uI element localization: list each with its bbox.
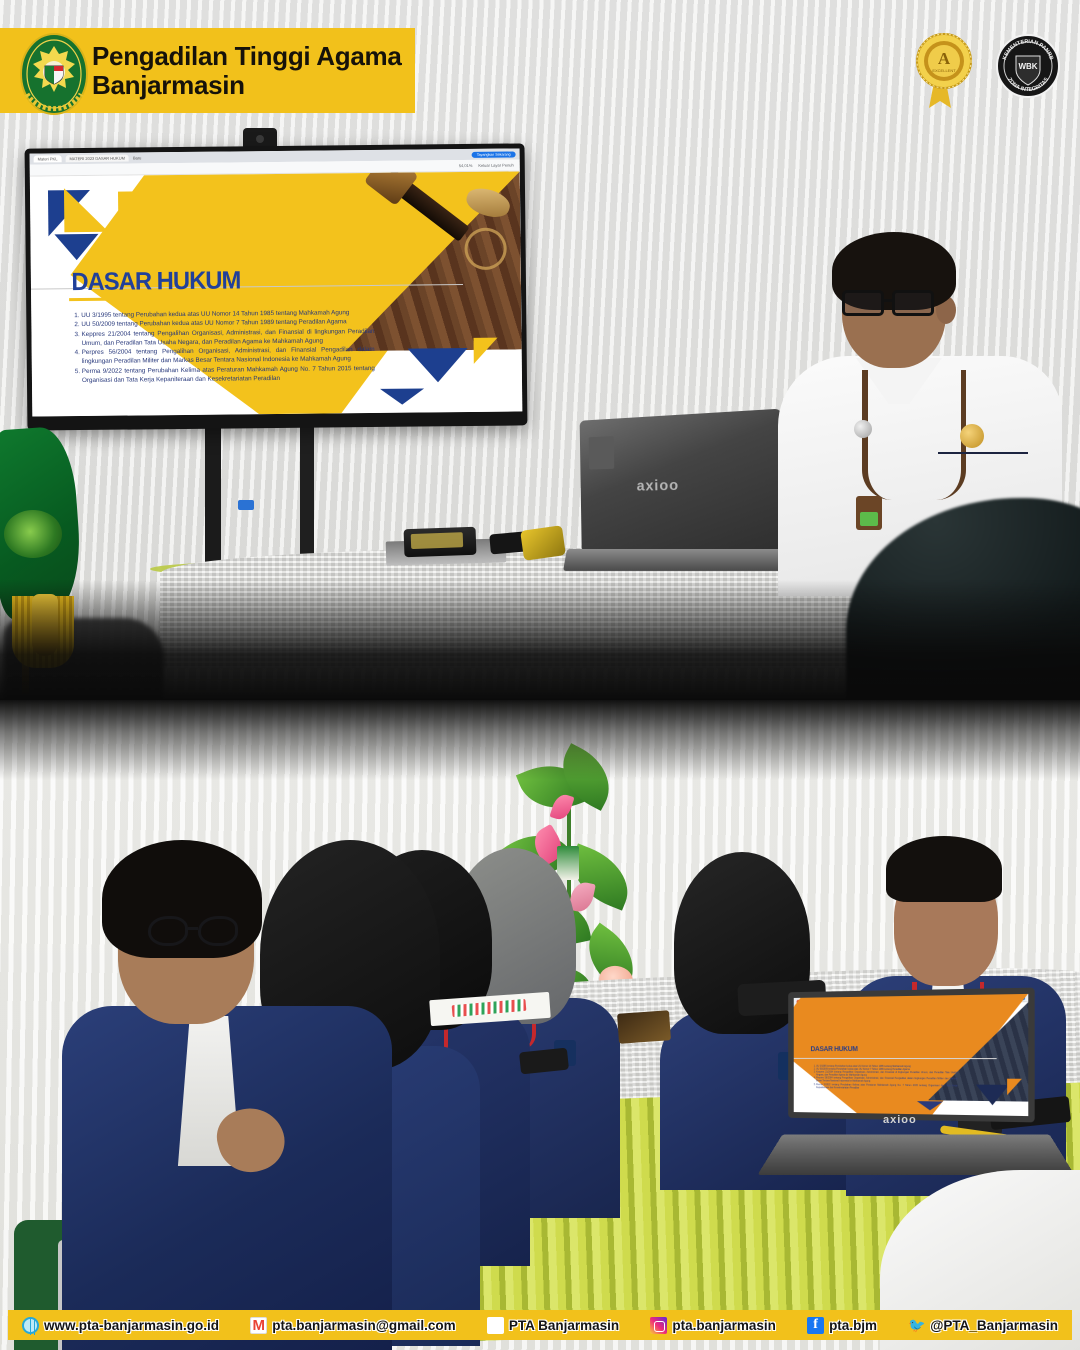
laptop-slide: DASAR HUKUM UU 3/1995 tentang Perubahan …	[794, 994, 1029, 1116]
laptop-brand-logo-lower: axioo	[883, 1114, 917, 1126]
presentation-slide: DASAR HUKUM UU 3/1995 tentang Perubahan …	[30, 171, 522, 416]
glasses-lens-right	[892, 290, 934, 316]
slide-title: DASAR HUKUM	[71, 266, 240, 297]
decor-triangle-outline-mini	[803, 1023, 824, 1036]
presenter-silver-pin	[854, 420, 872, 438]
decor-triangle-navy-mini	[976, 1085, 1009, 1106]
tab-bar-spacer	[145, 154, 467, 157]
tablet-device	[404, 527, 477, 557]
footer-item-label: @PTA_Banjarmasin	[930, 1318, 1058, 1333]
facebook-icon	[807, 1317, 824, 1334]
browser-tab-secondary[interactable]: MATERI 2023 DASAR HUKUM	[65, 155, 129, 163]
footer-item-globe[interactable]: www.pta-banjarmasin.go.id	[22, 1317, 219, 1334]
certification-badges: A EXCELLENT WBK KEMENTERIAN PANRB ZONA I…	[908, 30, 1064, 110]
zoom-level-value: 54,01%	[459, 163, 473, 168]
decor-triangle-outline-bottom	[380, 388, 424, 404]
presenter-pocket-line	[938, 452, 1028, 454]
slide-bullet-list: UU 3/1995 tentang Perubahan kedua atas U…	[69, 309, 375, 386]
eyeglasses-icon	[148, 916, 244, 946]
footer-item-label: pta.bjm	[829, 1318, 877, 1333]
eyeglasses-icon	[842, 290, 938, 316]
laptop-slide-list: UU 3/1995 tentang Perubahan kedua atas U…	[811, 1066, 958, 1092]
decor-triangle-gold-small	[118, 191, 140, 215]
footer-item-youtube[interactable]: PTA Banjarmasin	[487, 1317, 619, 1334]
photo-attendees-scene: DASAR HUKUM UU 3/1995 tentang Perubahan …	[0, 700, 1080, 1350]
laptop-lid: axioo	[580, 409, 784, 558]
youtube-icon	[487, 1317, 504, 1334]
zona-integritas-wbk-badge: WBK KEMENTERIAN PANRB ZONA INTEGRITAS	[992, 30, 1064, 110]
instagram-icon	[650, 1317, 667, 1334]
blue-cable-connector	[238, 500, 254, 510]
decor-triangle-gold-mini	[1007, 1079, 1022, 1096]
wooden-plaque	[617, 1010, 671, 1044]
decor-triangle-navy-bottom	[408, 348, 468, 383]
glasses-bridge	[188, 927, 198, 930]
new-tab-label[interactable]: Baru	[133, 155, 142, 160]
glasses-lens-left	[842, 290, 884, 316]
television-display: Materi PKL MATERI 2023 DASAR HUKUM Baru …	[25, 143, 528, 430]
decor-triangle-outline	[54, 234, 98, 260]
page-title: Pengadilan Tinggi Agama Banjarmasin	[92, 42, 401, 98]
laptop-screen: DASAR HUKUM UU 3/1995 tentang Perubahan …	[788, 988, 1034, 1123]
svg-text:WBK: WBK	[1018, 62, 1037, 71]
presenter-gold-emblem	[960, 424, 984, 448]
globe-icon	[22, 1317, 39, 1334]
browser-tab-active[interactable]: Materi PKL	[34, 155, 62, 162]
footer-item-label: www.pta-banjarmasin.go.id	[44, 1318, 219, 1333]
footer-item-gmail[interactable]: pta.banjarmasin@gmail.com	[250, 1317, 455, 1334]
gmail-icon	[250, 1317, 267, 1334]
presenter-lanyard	[862, 370, 966, 500]
glasses-lens-right	[198, 916, 238, 946]
slide-bullet-3: Keppres 21/2004 tentang Pengalihan Organ…	[81, 328, 374, 349]
laptop-brand-logo: axioo	[637, 477, 680, 495]
twitter-icon	[908, 1317, 925, 1334]
attendee-male-foreground	[62, 840, 392, 1350]
flag-emblem	[4, 510, 62, 558]
footer-item-label: pta.banjarmasin	[672, 1318, 776, 1333]
decor-triangle-gold	[64, 188, 108, 232]
footer-item-label: PTA Banjarmasin	[509, 1318, 619, 1333]
laptop-lower: DASAR HUKUM UU 3/1995 tentang Perubahan …	[775, 990, 1075, 1190]
attendee-hair	[886, 836, 1002, 902]
pta-banjarmasin-logo-icon	[18, 32, 90, 116]
decor-triangle-outline-bottom-mini	[917, 1101, 943, 1110]
present-now-button[interactable]: Tayangkan Sekarang	[472, 151, 516, 157]
svg-text:EXCELLENT: EXCELLENT	[932, 68, 956, 73]
tv-screen: Materi PKL MATERI 2023 DASAR HUKUM Baru …	[30, 148, 523, 416]
decor-triangle-gold-bottom	[474, 338, 498, 364]
footer-contact-bar: www.pta-banjarmasin.go.idpta.banjarmasin…	[8, 1310, 1072, 1340]
slide-bullet-4: Perpres 56/2004 tentang Pengalihan Organ…	[82, 346, 375, 367]
yellow-device	[520, 525, 566, 561]
laptop-slide-title: DASAR HUKUM	[811, 1046, 858, 1053]
footer-item-label: pta.banjarmasin@gmail.com	[272, 1318, 455, 1333]
footer-item-twitter[interactable]: @PTA_Banjarmasin	[908, 1317, 1058, 1334]
photo-bottom-fade	[0, 580, 1080, 700]
slide-bullet-5: Perma 9/2022 tentang Perubahan Kelima at…	[82, 365, 375, 386]
photo-top-fade	[0, 700, 1080, 780]
presenter-id-badge	[856, 496, 882, 530]
laptop-sticker	[589, 436, 615, 469]
footer-item-facebook[interactable]: pta.bjm	[807, 1317, 877, 1334]
webcam-icon	[243, 128, 277, 148]
svg-text:A: A	[938, 49, 951, 68]
laptop-upper: axioo	[565, 415, 790, 575]
akreditasi-a-excellent-badge: A EXCELLENT	[908, 30, 980, 110]
glasses-lens-left	[148, 916, 188, 946]
exit-fullscreen-button[interactable]: Keluar Layar Penuh	[478, 163, 513, 168]
footer-item-instagram[interactable]: pta.banjarmasin	[650, 1317, 776, 1334]
